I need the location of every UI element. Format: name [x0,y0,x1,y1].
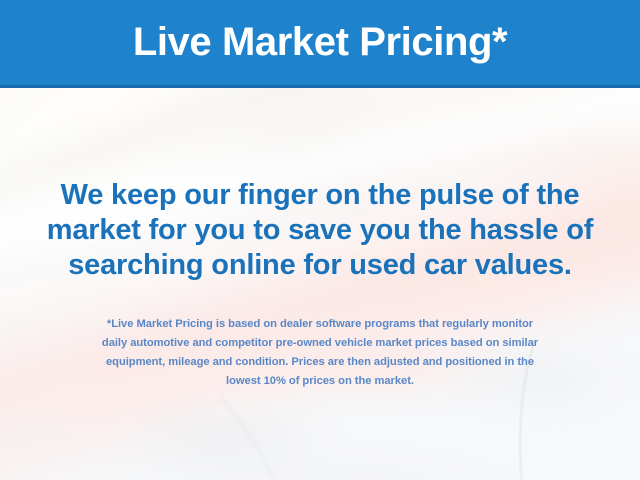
disclaimer-line-3: equipment, mileage and condition. Prices… [18,353,622,372]
disclaimer-line-4: lowest 10% of prices on the market. [18,372,622,391]
live-market-pricing-banner: Live Market Pricing* We keep our finger … [0,0,640,480]
disclaimer-line-1: *Live Market Pricing is based on dealer … [18,315,622,334]
header-band: Live Market Pricing* [0,0,640,88]
disclaimer-line-2: daily automotive and competitor pre-owne… [18,334,622,353]
headline-text: We keep our finger on the pulse of the m… [0,178,640,283]
headline-line-3: searching online for used car values. [22,248,618,283]
disclaimer-text: *Live Market Pricing is based on dealer … [0,315,640,391]
headline-line-1: We keep our finger on the pulse of the [22,178,618,213]
page-title: Live Market Pricing* [133,22,507,62]
headline-line-2: market for you to save you the hassle of [22,213,618,248]
